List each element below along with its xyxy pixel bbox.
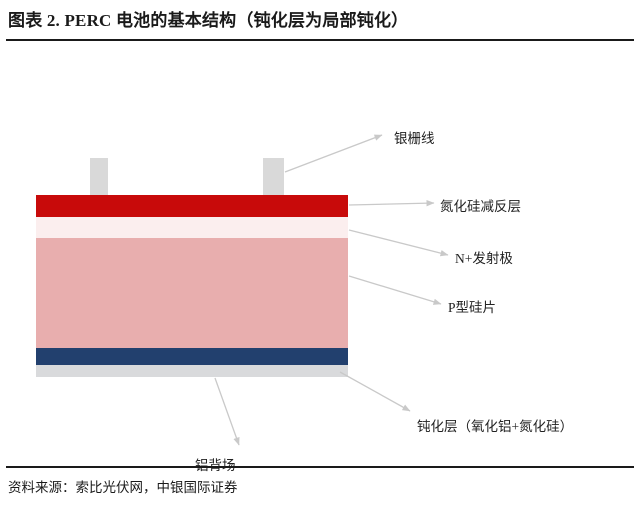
label-emitter: N+发射极 [455, 247, 513, 267]
layer-aluminum-bsf [36, 348, 348, 365]
layer-n-plus-emitter [36, 217, 348, 238]
layer-p-type-silicon [36, 238, 348, 348]
label-silver-grid: 银栅线 [394, 127, 435, 147]
figure-header: 图表 2. PERC 电池的基本结构（钝化层为局部钝化） [0, 0, 640, 41]
figure-footer: 资料来源：索比光伏网，中银国际证券 [0, 460, 640, 509]
leader-substrate [349, 276, 441, 304]
leader-passivation [340, 372, 410, 411]
label-passivation: 钝化层（氧化铝+氮化硅） [417, 415, 573, 435]
layer-passivation [36, 365, 348, 377]
diagram-canvas: 银栅线 氮化硅减反层 N+发射极 P型硅片 钝化层（氧化铝+氮化硅） 铝背场 [0, 45, 640, 460]
source-note: 资料来源：索比光伏网，中银国际证券 [8, 476, 238, 496]
footer-divider [6, 466, 634, 468]
leader-emitter [349, 230, 448, 255]
label-substrate: P型硅片 [448, 296, 496, 316]
leader-bsf [215, 378, 239, 445]
label-arc: 氮化硅减反层 [440, 195, 521, 215]
page-title: 图表 2. PERC 电池的基本结构（钝化层为局部钝化） [8, 6, 408, 31]
leader-arc [349, 203, 434, 205]
title-divider [6, 39, 634, 41]
silver-grid-contact-left [90, 158, 108, 197]
leader-silver-grid [285, 135, 382, 172]
layer-antireflection-sinx [36, 195, 348, 217]
silver-grid-contact-right [263, 158, 284, 197]
